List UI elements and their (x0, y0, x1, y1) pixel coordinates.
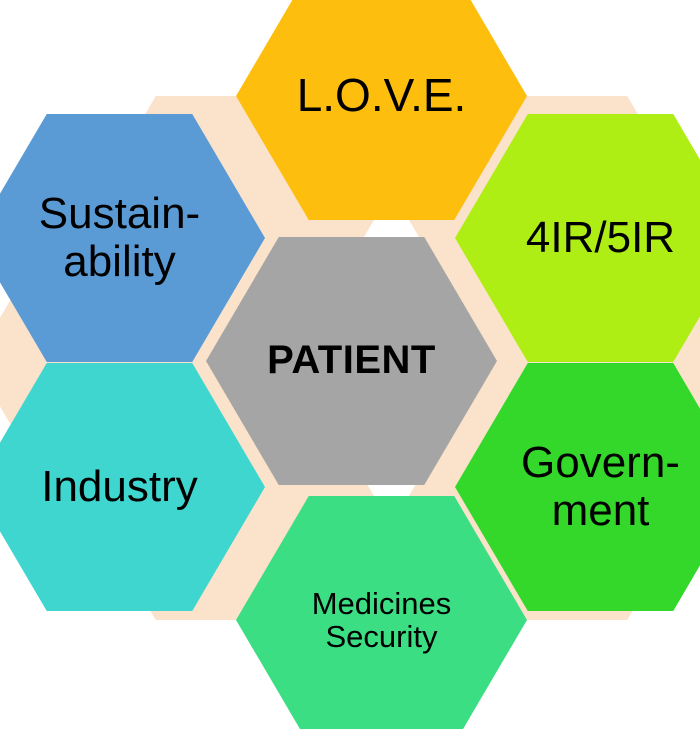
hex-label-patient: PATIENT (263, 339, 440, 382)
diagram-canvas: L.O.V.E. 4IR/5IR Govern- ment Medicines … (0, 0, 700, 729)
hex-label-4ir-5ir: 4IR/5IR (522, 214, 679, 262)
hex-label-government: Govern- ment (517, 439, 684, 534)
hex-label-industry: Industry (37, 463, 202, 511)
hex-label-sustainability: Sustain- ability (35, 190, 204, 285)
hex-label-love: L.O.V.E. (293, 71, 471, 121)
hex-label-medicines-security: Medicines Security (308, 587, 456, 654)
